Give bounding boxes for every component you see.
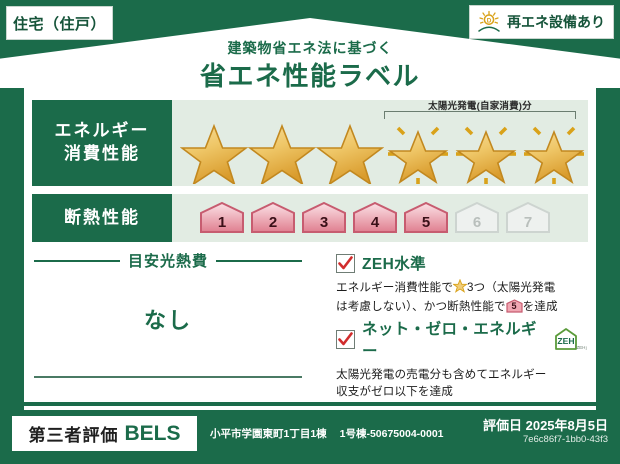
sun-solar-icon: D: [476, 10, 502, 34]
utility-cost-heading-text: 目安光熱費: [128, 250, 208, 271]
star-solar: [452, 110, 520, 184]
evaluation-date-label: 評価日: [483, 418, 522, 433]
footer-top-rule: [24, 406, 596, 410]
star-solar: [520, 110, 588, 184]
renewable-equipment-badge: D 再エネ設備あり: [469, 5, 614, 39]
bels-brand-label: BELS: [124, 422, 180, 446]
star-plain: [180, 110, 248, 184]
label-subtitle: 建築物省エネ法に基づく: [0, 38, 620, 58]
insulation-level-chip-inactive: 6: [453, 201, 501, 235]
evaluation-date: 評価日 2025年8月5日: [483, 415, 608, 434]
insulation-level-chip: 5: [402, 201, 450, 235]
zeh-standard-description: エネルギー消費性能で 3つ（太陽光発電 は考慮しない）、かつ断熱性能で 5を達成: [336, 279, 588, 316]
criterion-title-row: ZEH水準: [336, 252, 588, 274]
insulation-levels-panel: 1 2 3 4: [172, 194, 588, 242]
insulation-performance-row: 断熱性能 1 2: [32, 194, 588, 242]
criterion-zeh-standard: ZEH水準 エネルギー消費性能で 3つ（太陽光発電 は考慮しない）、かつ断熱性能…: [336, 252, 588, 316]
insulation-performance-label: 断熱性能: [32, 194, 172, 242]
utility-cost-block: 目安光熱費 なし: [34, 250, 302, 398]
certificate-code: 7e6c86f7-1bb0-43f3: [523, 434, 608, 445]
insulation-level-chip-inactive: 7: [504, 201, 552, 235]
housing-type-chip: 住宅（住戸）: [6, 6, 113, 40]
address-text: 小平市学園東町1丁目1棟: [210, 428, 327, 440]
heading-rule-right: [216, 260, 302, 262]
insulation-level-chip: 2: [249, 201, 297, 235]
housing-type-label: 住宅（住戸）: [13, 13, 106, 34]
star-plain: [316, 110, 384, 184]
insulation-level-chip: 4: [351, 201, 399, 235]
svg-text:D: D: [487, 17, 492, 24]
utility-cost-value: なし: [34, 303, 302, 335]
net-zero-energy-description: 太陽光発電の売電分も含めてエネルギー 収支がゼロ以下を達成: [336, 366, 588, 401]
energy-performance-label: エネルギー 消費性能: [32, 100, 172, 186]
energy-performance-row: エネルギー 消費性能 太陽光発電(自家消費)分: [32, 100, 588, 186]
inline-star-icon: [453, 279, 467, 298]
zeh-house-logo-icon: ZEH 「ZEH」: [552, 327, 588, 351]
energy-star-rating: [180, 110, 588, 184]
bels-certification-chip: 第三者評価 BELS: [12, 416, 197, 451]
unit-number-text: 1号棟-50675004-0001: [340, 428, 444, 440]
utility-cost-bottom-rule: [34, 376, 302, 378]
label-footer: 第三者評価 BELS 小平市学園東町1丁目1棟 1号棟-50675004-000…: [0, 406, 620, 464]
evaluation-date-value: 2025年8月5日: [526, 418, 608, 433]
star-plain: [248, 110, 316, 184]
third-party-evaluation-label: 第三者評価: [28, 421, 118, 446]
property-address: 小平市学園東町1丁目1棟 1号棟-50675004-0001: [210, 426, 444, 441]
check-icon: [338, 256, 353, 271]
insulation-level-chip: 1: [198, 201, 246, 235]
check-icon: [338, 332, 353, 347]
net-zero-energy-checkbox[interactable]: [336, 330, 355, 349]
svg-text:「ZEH」: 「ZEH」: [572, 345, 588, 350]
inline-insulation-chip: 5: [506, 299, 523, 313]
zeh-standard-title: ZEH水準: [362, 252, 426, 274]
utility-cost-heading: 目安光熱費: [34, 250, 302, 271]
insulation-level-chip: 3: [300, 201, 348, 235]
criterion-title-row: ネット・ゼロ・エネルギー ZEH 「ZEH」: [336, 317, 588, 361]
heading-rule-left: [34, 260, 120, 262]
zeh-standard-checkbox[interactable]: [336, 254, 355, 273]
renewable-badge-label: 再エネ設備あり: [507, 12, 605, 32]
criterion-net-zero-energy: ネット・ゼロ・エネルギー ZEH 「ZEH」 太陽光発電の売電分も含めてエネルギ…: [336, 317, 588, 401]
net-zero-energy-title: ネット・ゼロ・エネルギー: [362, 317, 545, 361]
star-solar: [384, 110, 452, 184]
bels-energy-label: 住宅（住戸） D 再エネ設備あり 建築物省エネ法に基づく 省: [0, 0, 620, 464]
energy-stars-panel: 太陽光発電(自家消費)分: [172, 100, 588, 186]
label-title: 省エネ性能ラベル: [0, 56, 620, 93]
